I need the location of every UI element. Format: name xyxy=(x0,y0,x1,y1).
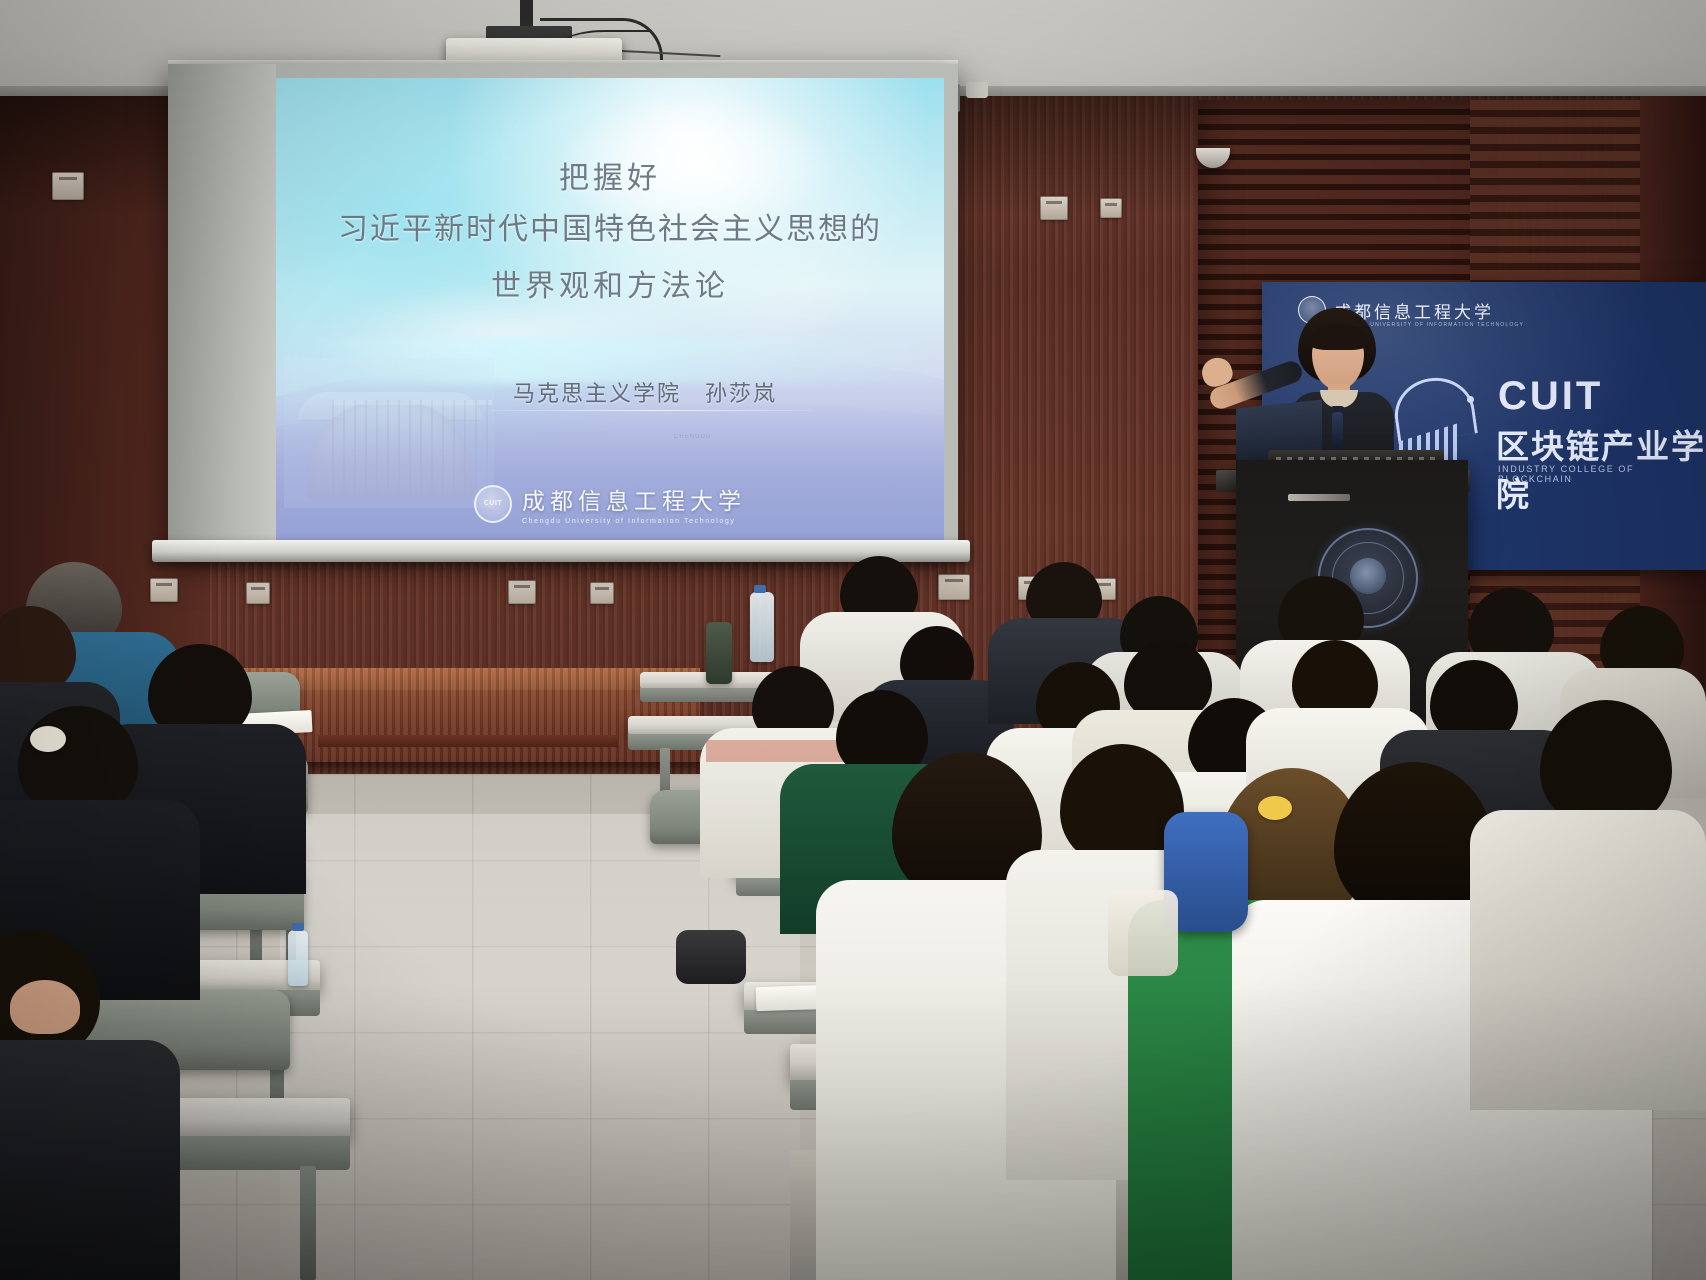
wall-plate[interactable] xyxy=(150,578,178,602)
podium-light-strip xyxy=(1288,494,1350,501)
slide-logo-en: Chengdu University of Information Techno… xyxy=(522,518,735,525)
banner-college-en: INDUSTRY COLLEGE OF BLOCKCHAIN xyxy=(1498,464,1706,484)
slide-author-line: 马克思主义学院 孙莎岚 xyxy=(276,376,944,408)
logo-dot-shape xyxy=(1467,396,1474,403)
projector-lens xyxy=(966,82,988,98)
slide-title-line-1: 把握好 xyxy=(276,156,944,201)
slide-tiny-caption: CHENGDU xyxy=(674,434,711,440)
stage-step xyxy=(318,735,618,747)
bag[interactable] xyxy=(676,930,746,984)
wall-plate[interactable] xyxy=(590,582,614,604)
wall-plate[interactable] xyxy=(52,172,84,200)
water-bottle[interactable] xyxy=(750,592,774,662)
wall-plate[interactable] xyxy=(508,580,536,604)
hair-clip xyxy=(30,726,66,752)
lecture-hall-photo: 把握好 习近平新时代中国特色社会主义思想的 世界观和方法论 马克思主义学院 孙莎… xyxy=(0,0,1706,1280)
cuit-seal-icon: CUIT xyxy=(474,485,512,523)
banner-brand: CUIT xyxy=(1498,374,1603,419)
screen-left-edge xyxy=(168,64,276,556)
presentation-slide: 把握好 习近平新时代中国特色社会主义思想的 世界观和方法论 马克思主义学院 孙莎… xyxy=(276,78,944,540)
wall-plate[interactable] xyxy=(938,574,970,600)
slide-divider xyxy=(491,410,811,411)
screen-bottom-bar[interactable] xyxy=(152,540,970,562)
slide-title-line-2: 习近平新时代中国特色社会主义思想的 xyxy=(276,201,944,260)
water-bottle[interactable] xyxy=(288,930,308,986)
slide-logo-names: 成都信息工程大学 Chengdu University of Informati… xyxy=(522,482,746,525)
slide-title-line-3: 世界观和方法论 xyxy=(276,260,944,314)
thermos-cup[interactable] xyxy=(706,622,732,684)
wall-plate[interactable] xyxy=(1100,198,1122,218)
wall-plate[interactable] xyxy=(246,582,270,604)
slide-logo-cn: 成都信息工程大学 xyxy=(522,482,746,516)
hair-tie xyxy=(1258,796,1292,820)
slide-title-block: 把握好 习近平新时代中国特色社会主义思想的 世界观和方法论 xyxy=(276,156,944,314)
tote-bag[interactable] xyxy=(1108,890,1178,976)
wall-plate[interactable] xyxy=(1040,196,1068,220)
floor-shadow xyxy=(0,980,1706,1280)
slide-footer-logo: CUIT 成都信息工程大学 Chengdu University of Info… xyxy=(276,482,944,525)
